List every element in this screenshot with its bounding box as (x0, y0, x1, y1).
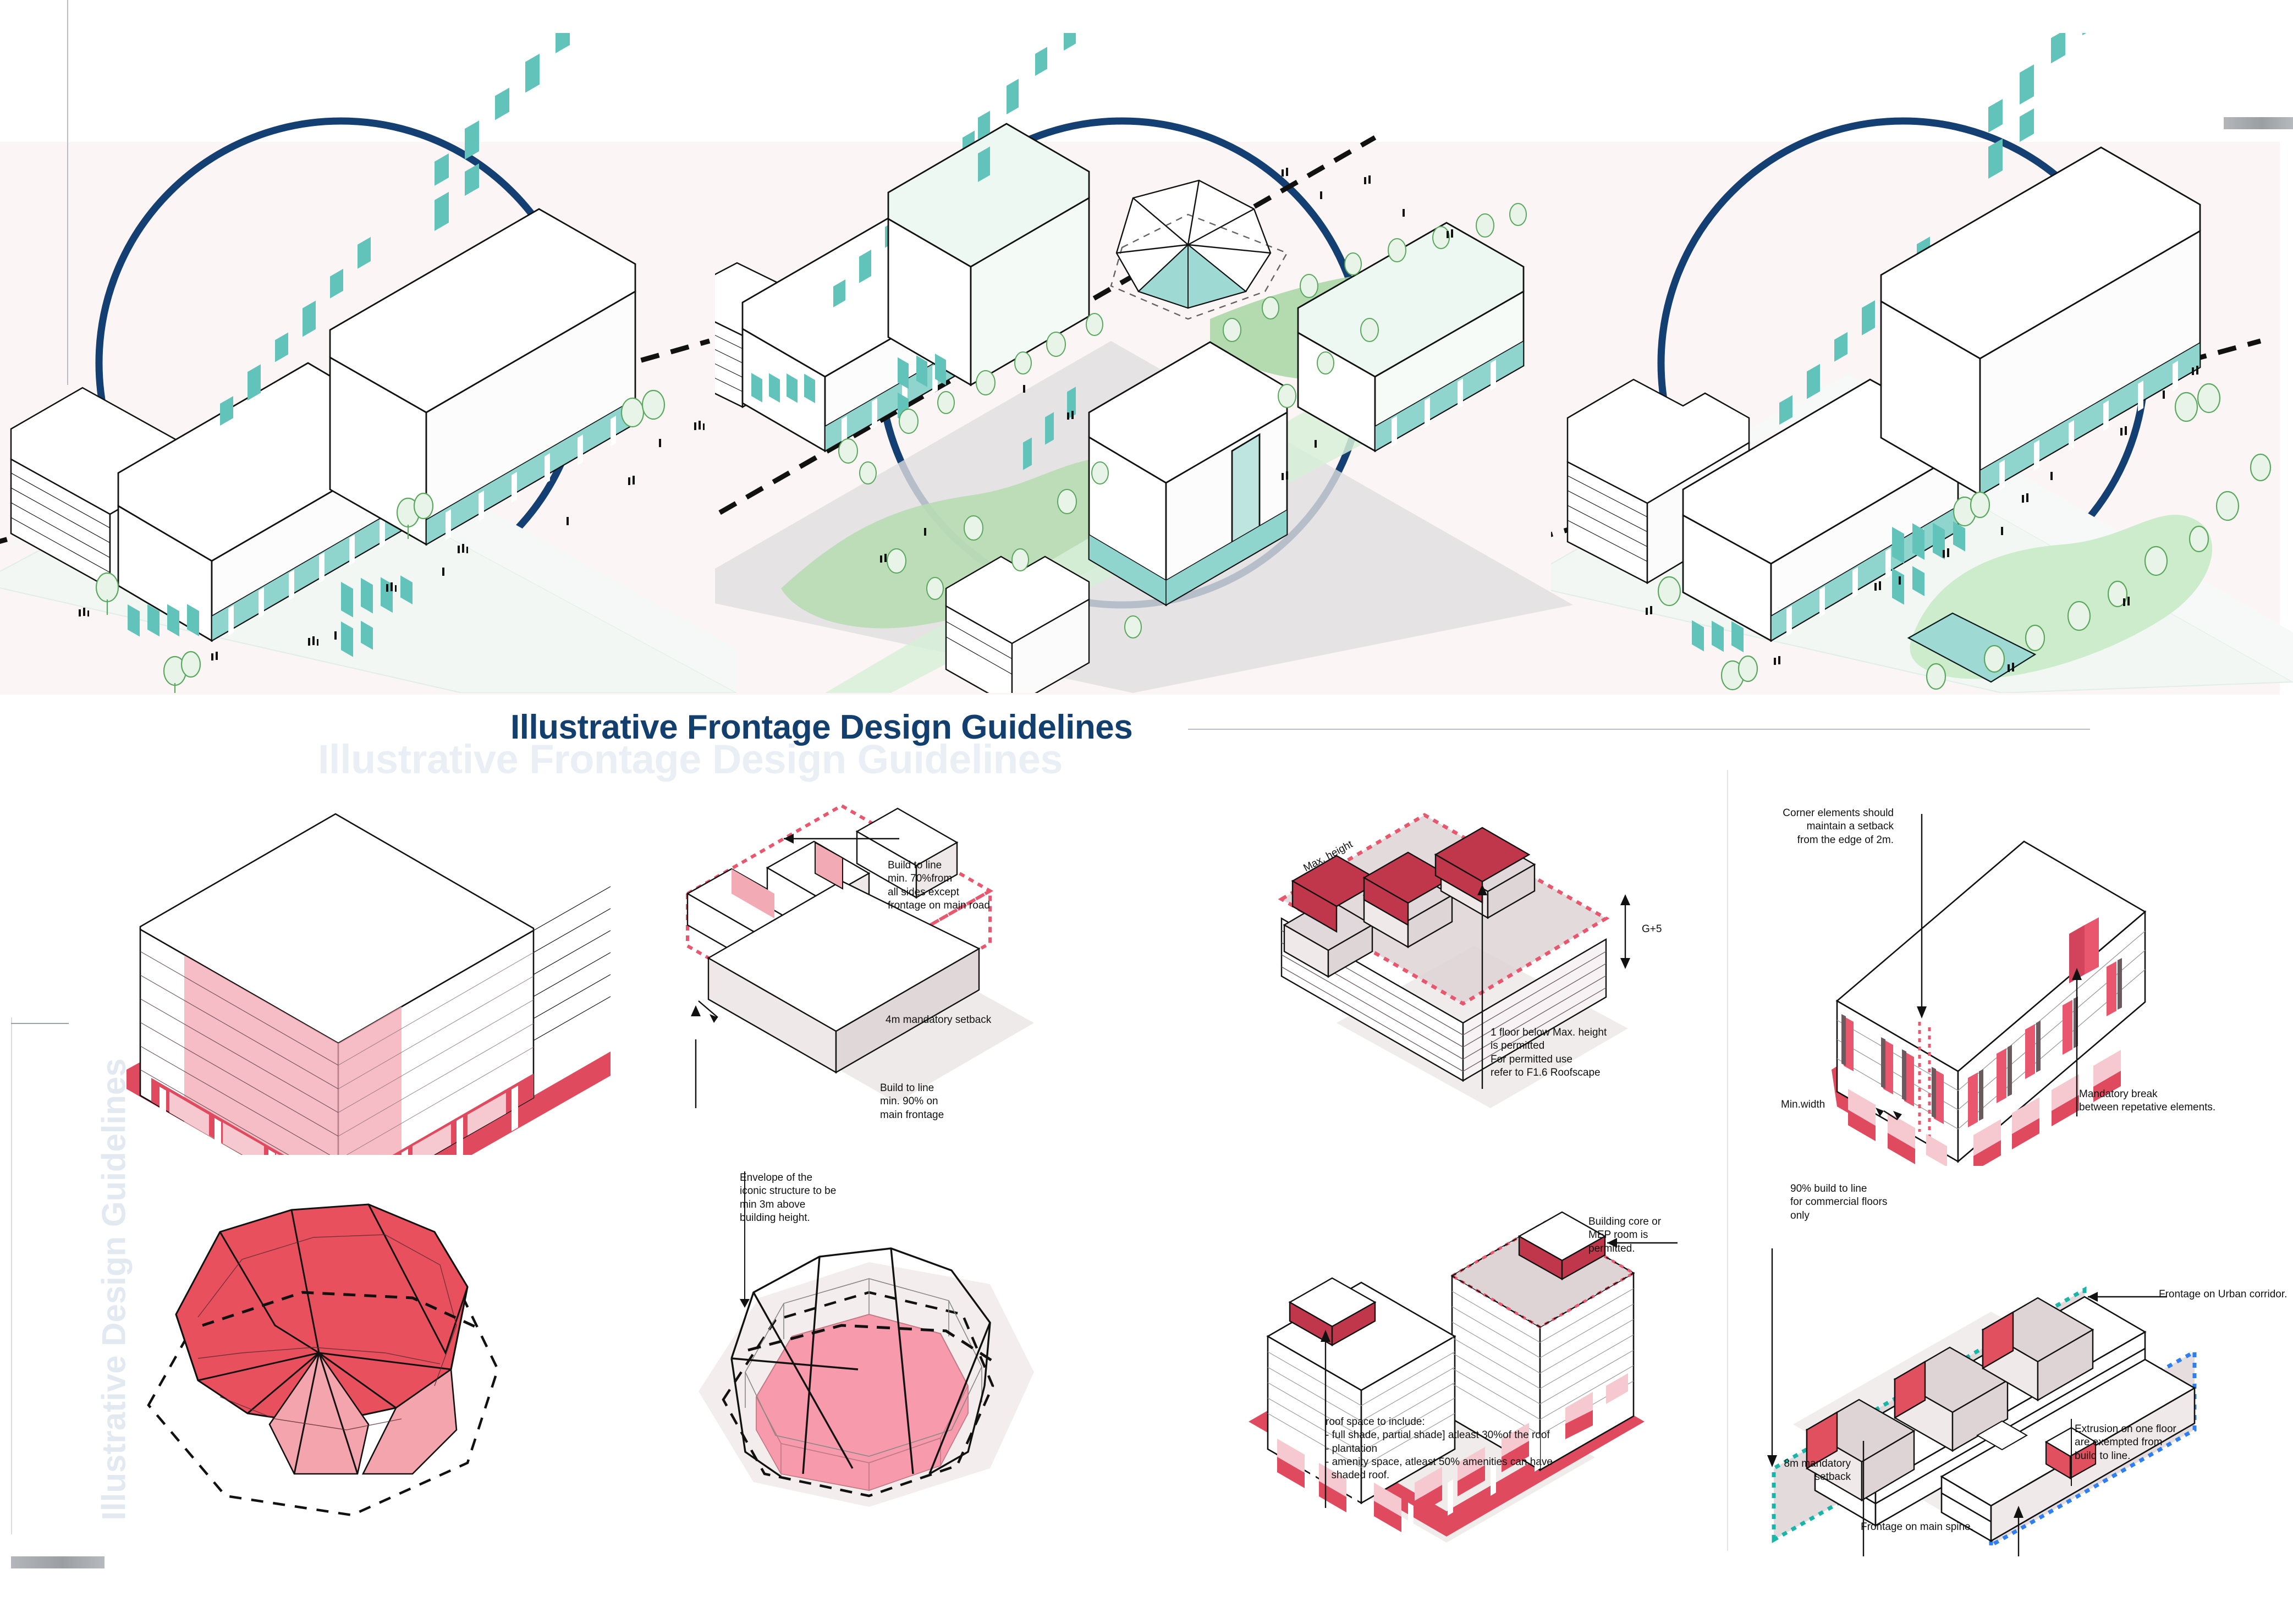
page-title: Illustrative Frontage Design Guidelines (510, 708, 1132, 747)
note-90-commercial: 90% build to line for commercial floors … (1790, 1182, 1887, 1223)
hero-scene-frontage-street (0, 33, 737, 693)
note-build-to-line-70: Build to line min. 70%from all sides exc… (888, 859, 990, 912)
page-marker-tab-bottom-left (11, 1556, 105, 1568)
note-4m-setback: 4m mandatory setback (886, 1014, 991, 1027)
leader-extrusion (2071, 1419, 2072, 1486)
hero-scene-waterfront-park (1551, 33, 2293, 693)
guideline-build-to-line-massing (127, 770, 633, 1155)
note-build-to-line-90: Build to line min. 90% on main frontage (880, 1082, 944, 1122)
note-corner-setback: Corner elements should maintain a setbac… (1767, 807, 1894, 847)
note-extrusion-exempt: Extrusion on one floor are exempted from… (2075, 1423, 2176, 1463)
note-min-width: Min.width (1781, 1098, 1825, 1111)
note-building-core-mep: Building core or MEP room is permitted. (1588, 1215, 1661, 1256)
horizontal-rule-left-margin (11, 1023, 69, 1024)
hero-scene-park-dome (715, 33, 1573, 693)
guideline-iconic-structure-mass (138, 1188, 578, 1573)
note-envelope-3m: Envelope of the iconic structure to be m… (740, 1171, 836, 1225)
vertical-rule-left-margin (11, 1017, 12, 1534)
note-frontage-urban-corridor: Frontage on Urban corridor. (2159, 1288, 2287, 1301)
guideline-max-height-roofscape (1254, 781, 1749, 1166)
leader-envelope-arrow (740, 1299, 750, 1308)
note-one-floor-below: 1 floor below Max. height is permitted F… (1491, 1026, 1607, 1080)
note-frontage-main-spine: Frontage on main spine. (1861, 1521, 1973, 1534)
note-mandatory-break: Mandatory break between repetative eleme… (2079, 1088, 2215, 1115)
leader-envelope (744, 1171, 745, 1301)
note-g-plus-5: G+5 (1642, 923, 1662, 936)
note-roof-space: roof space to include: - full shade, par… (1326, 1416, 1553, 1483)
title-underline-rule (1188, 729, 2090, 730)
guideline-iconic-structure-envelope (693, 1232, 1111, 1584)
note-8m-setback: 8m mandatory setback (1774, 1457, 1851, 1484)
